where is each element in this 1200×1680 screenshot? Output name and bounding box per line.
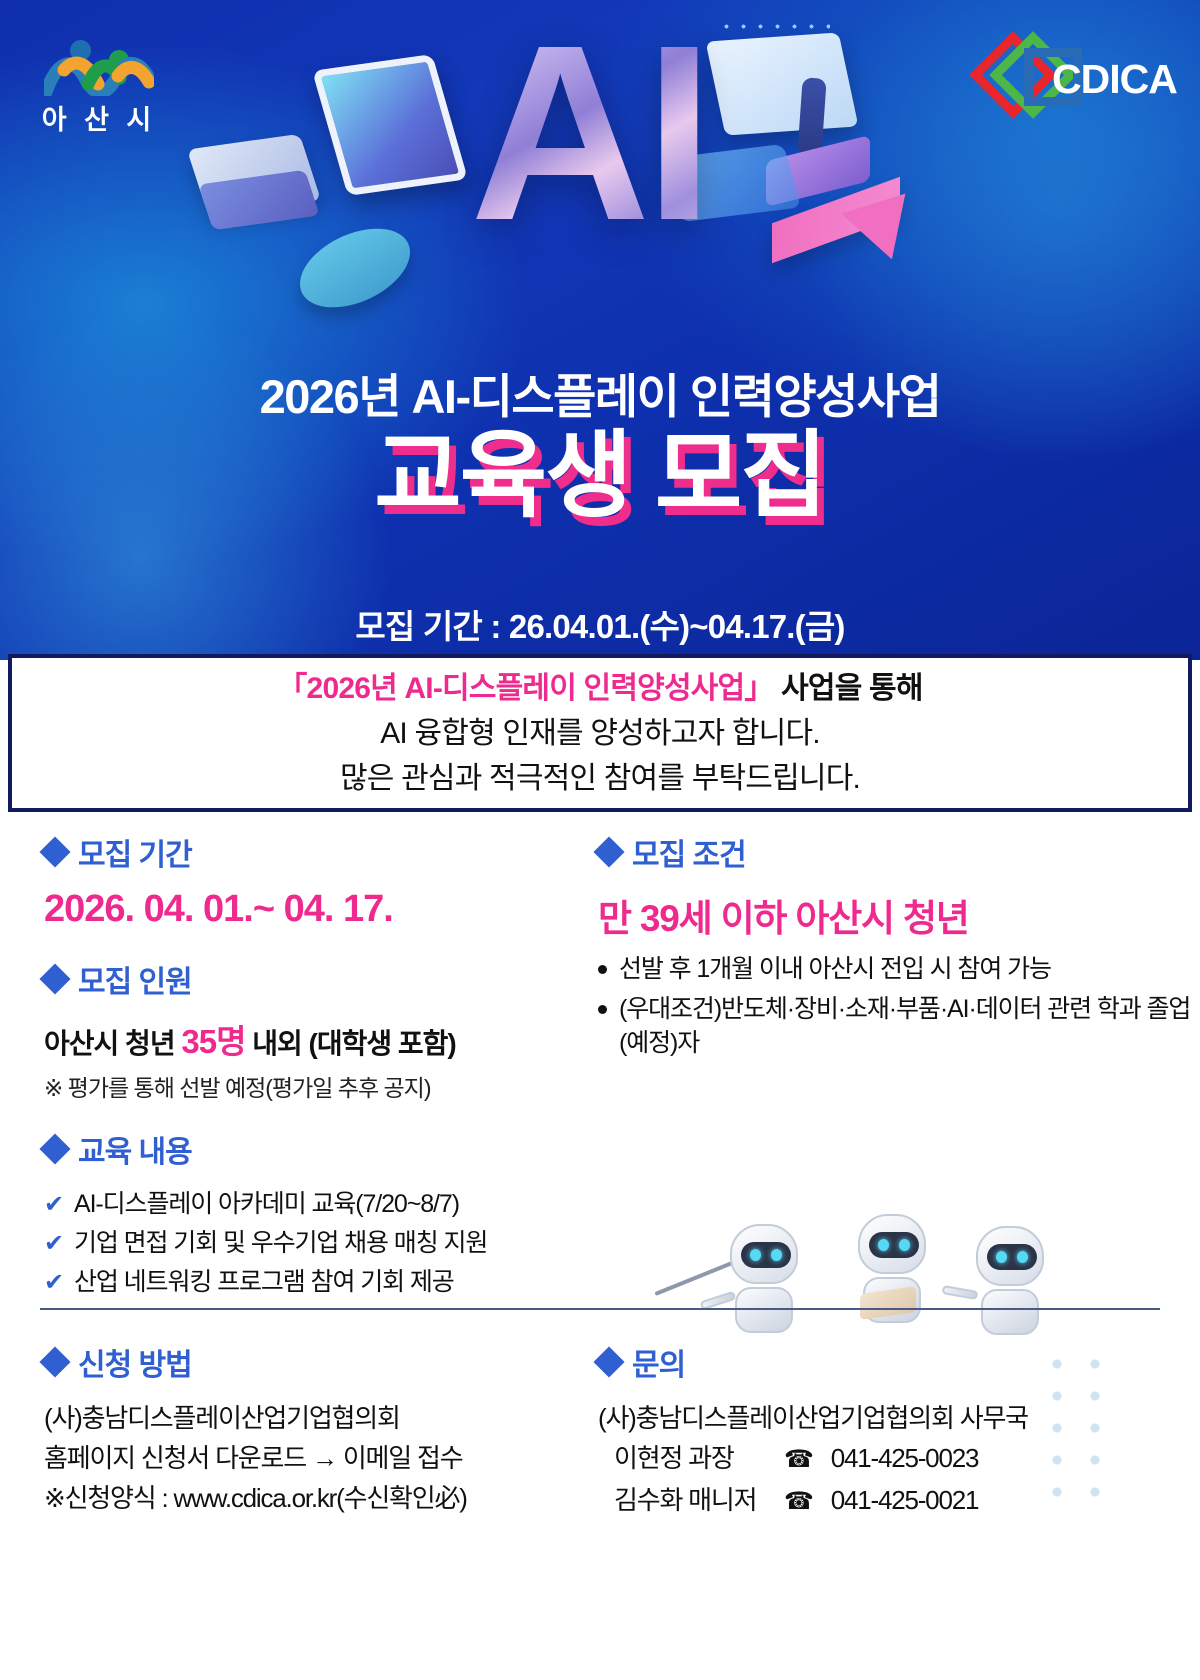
- diamond-bullet-icon: [39, 836, 70, 867]
- footer-divider: [40, 1308, 1160, 1310]
- contact-row: 이현정 과장 ☎ 041-425-0023: [598, 1438, 1200, 1480]
- body-area: 모집 기간 2026. 04. 01.~ 04. 17. 모집 인원 아산시 청…: [0, 812, 1200, 1680]
- diamond-bullet-icon: [593, 1346, 624, 1377]
- headcount-suffix: 내외 (대학생 포함): [245, 1028, 455, 1059]
- intro-line-2: AI 융합형 인재를 양성하고자 합니다.: [380, 711, 820, 756]
- section-heading-headcount: 모집 인원: [44, 957, 580, 1001]
- page-headline: 교육생 모집: [0, 420, 1200, 532]
- cdica-wordmark: CDICA: [1052, 56, 1177, 103]
- asan-logo-wave-icon: [44, 50, 154, 96]
- contact-phone[interactable]: 041-425-0023: [831, 1438, 979, 1478]
- intro-line-1: 「2026년 AI-디스플레이 인력양성사업」 사업을 통해: [277, 666, 922, 711]
- robot-eye-right: [771, 1249, 782, 1261]
- robot-eye-right: [899, 1239, 910, 1251]
- check-icon: ✔: [44, 1186, 63, 1224]
- asan-logo-mark: [44, 32, 154, 94]
- contact-name: 이현정 과장: [598, 1438, 766, 1478]
- intro-emphasis: 「2026년 AI-디스플레이 인력양성사업」: [277, 672, 773, 705]
- section-heading-apply: 신청 방법: [44, 1340, 580, 1384]
- robot-eye-left: [996, 1251, 1007, 1263]
- asan-city-logo: 아 산 시: [38, 32, 168, 137]
- inquiry-org: (사)충남디스플레이산업기업협의회 사무국: [598, 1398, 1200, 1438]
- conditions-item-text: 선발 후 1개월 이내 아산시 전입 시 참여 가능: [619, 952, 1051, 986]
- section-heading-curriculum: 교육 내용: [44, 1127, 580, 1171]
- decorative-pie-chart-icon: [300, 216, 410, 320]
- list-item: 선발 후 1개월 이내 아산시 전입 시 참여 가능: [598, 952, 1200, 986]
- robot-arm: [941, 1285, 978, 1300]
- detail-column-left: 모집 기간 2026. 04. 01.~ 04. 17. 모집 인원 아산시 청…: [0, 830, 580, 1302]
- robot-mascots: [690, 1202, 1090, 1332]
- telephone-icon: ☎: [784, 1482, 813, 1522]
- section-heading-conditions: 모집 조건: [598, 830, 1200, 874]
- bullet-dot-icon: [598, 965, 607, 974]
- robot-eye-left: [878, 1239, 889, 1251]
- check-icon: ✔: [44, 1225, 63, 1263]
- headcount-value: 아산시 청년 35명 내외 (대학생 포함): [44, 1015, 580, 1063]
- robot-body: [981, 1289, 1039, 1335]
- section-heading-period: 모집 기간: [44, 830, 580, 874]
- curriculum-item-text: 기업 면접 기회 및 우수기업 채용 매칭 지원: [74, 1224, 487, 1262]
- section-heading-conditions-label: 모집 조건: [632, 830, 746, 874]
- list-item: (우대조건)반도체·장비·소재·부품·AI·데이터 관련 학과 졸업(예정)자: [598, 992, 1200, 1060]
- list-item: ✔ 산업 네트워킹 프로그램 참여 기회 제공: [44, 1263, 580, 1302]
- list-item: ✔ AI-디스플레이 아카데미 교육(7/20~8/7): [44, 1185, 580, 1224]
- apply-form-url[interactable]: ※신청양식 : www.cdica.or.kr(수신확인必): [44, 1478, 580, 1518]
- robot-pointing-left: [730, 1224, 798, 1333]
- decorative-tablet-icon: [312, 54, 468, 196]
- ai-art-text: AI: [470, 18, 730, 248]
- diamond-bullet-icon: [39, 963, 70, 994]
- apply-line-1: (사)충남디스플레이산업기업협의회: [44, 1398, 580, 1438]
- intro-box: 「2026년 AI-디스플레이 인력양성사업」 사업을 통해 AI 융합형 인재…: [8, 654, 1192, 812]
- cdica-logo: CDICA: [980, 28, 1170, 128]
- curriculum-list: ✔ AI-디스플레이 아카데미 교육(7/20~8/7) ✔ 기업 면접 기회 …: [44, 1185, 580, 1302]
- robot-visor: [987, 1244, 1037, 1270]
- recruitment-period-banner: 모집 기간 : 26.04.01.(수)~04.17.(금): [0, 600, 1200, 648]
- robot-holding-tablet: [858, 1214, 926, 1323]
- robot-visor: [869, 1232, 919, 1258]
- curriculum-item-text: AI-디스플레이 아카데미 교육(7/20~8/7): [74, 1185, 459, 1223]
- poster-root: 아 산 시 CDICA AI 2026년 AI-디스플레이 인력양성사업 교육생…: [0, 0, 1200, 1680]
- headcount-highlight: 35명: [181, 1023, 245, 1060]
- contact-phone[interactable]: 041-425-0021: [831, 1480, 979, 1520]
- apply-line-2: 홈페이지 신청서 다운로드 → 이메일 접수: [44, 1438, 580, 1478]
- page-title: 2026년 AI-디스플레이 인력양성사업: [0, 358, 1200, 427]
- check-icon: ✔: [44, 1264, 63, 1302]
- conditions-item-text: (우대조건)반도체·장비·소재·부품·AI·데이터 관련 학과 졸업(예정)자: [619, 992, 1200, 1060]
- section-heading-curriculum-label: 교육 내용: [78, 1127, 192, 1171]
- contact-row: 김수화 매니저 ☎ 041-425-0021: [598, 1480, 1200, 1522]
- list-item: ✔ 기업 면접 기회 및 우수기업 채용 매칭 지원: [44, 1224, 580, 1263]
- conditions-highlight: 만 39세 이하 아산시 청년: [598, 888, 1200, 942]
- intro-line-1-tail: 사업을 통해: [774, 672, 923, 705]
- section-heading-apply-label: 신청 방법: [78, 1340, 192, 1384]
- period-value: 2026. 04. 01.~ 04. 17.: [44, 888, 580, 931]
- contact-name: 김수화 매니저: [598, 1480, 766, 1520]
- conditions-list: 선발 후 1개월 이내 아산시 전입 시 참여 가능 (우대조건)반도체·장비·…: [598, 952, 1200, 1060]
- robot-body: [735, 1287, 793, 1333]
- bullet-dot-icon: [598, 1005, 607, 1014]
- diamond-bullet-icon: [593, 836, 624, 867]
- robot-head: [976, 1226, 1044, 1286]
- apply-section: 신청 방법 (사)충남디스플레이산업기업협의회 홈페이지 신청서 다운로드 → …: [0, 1340, 580, 1522]
- robot-visor: [741, 1242, 791, 1268]
- ai-art-letters: AI: [470, 18, 730, 288]
- telephone-icon: ☎: [784, 1440, 813, 1480]
- robot-eye-right: [1017, 1251, 1028, 1263]
- curriculum-item-text: 산업 네트워킹 프로그램 참여 기회 제공: [74, 1263, 454, 1301]
- headcount-prefix: 아산시 청년: [44, 1028, 181, 1059]
- asan-logo-label: 아 산 시: [38, 98, 160, 137]
- section-heading-headcount-label: 모집 인원: [78, 957, 192, 1001]
- robot-head: [858, 1214, 926, 1274]
- section-heading-inquiry-label: 문의: [632, 1340, 685, 1384]
- intro-line-3: 많은 관심과 적극적인 참여를 부탁드립니다.: [340, 756, 860, 801]
- robot-pointing-right: [976, 1226, 1044, 1335]
- section-heading-period-label: 모집 기간: [78, 830, 192, 874]
- footer-columns: 신청 방법 (사)충남디스플레이산업기업협의회 홈페이지 신청서 다운로드 → …: [0, 1340, 1200, 1522]
- headcount-note: ※ 평가를 통해 선발 예정(평가일 추후 공지): [44, 1069, 580, 1103]
- inquiry-section: 문의 (사)충남디스플레이산업기업협의회 사무국 이현정 과장 ☎ 041-42…: [580, 1340, 1200, 1522]
- robot-head: [730, 1224, 798, 1284]
- diamond-bullet-icon: [39, 1346, 70, 1377]
- section-heading-inquiry: 문의: [598, 1340, 1200, 1384]
- diamond-bullet-icon: [39, 1133, 70, 1164]
- hero-banner: 아 산 시 CDICA AI 2026년 AI-디스플레이 인력양성사업 교육생…: [0, 0, 1200, 660]
- robot-eye-left: [750, 1249, 761, 1261]
